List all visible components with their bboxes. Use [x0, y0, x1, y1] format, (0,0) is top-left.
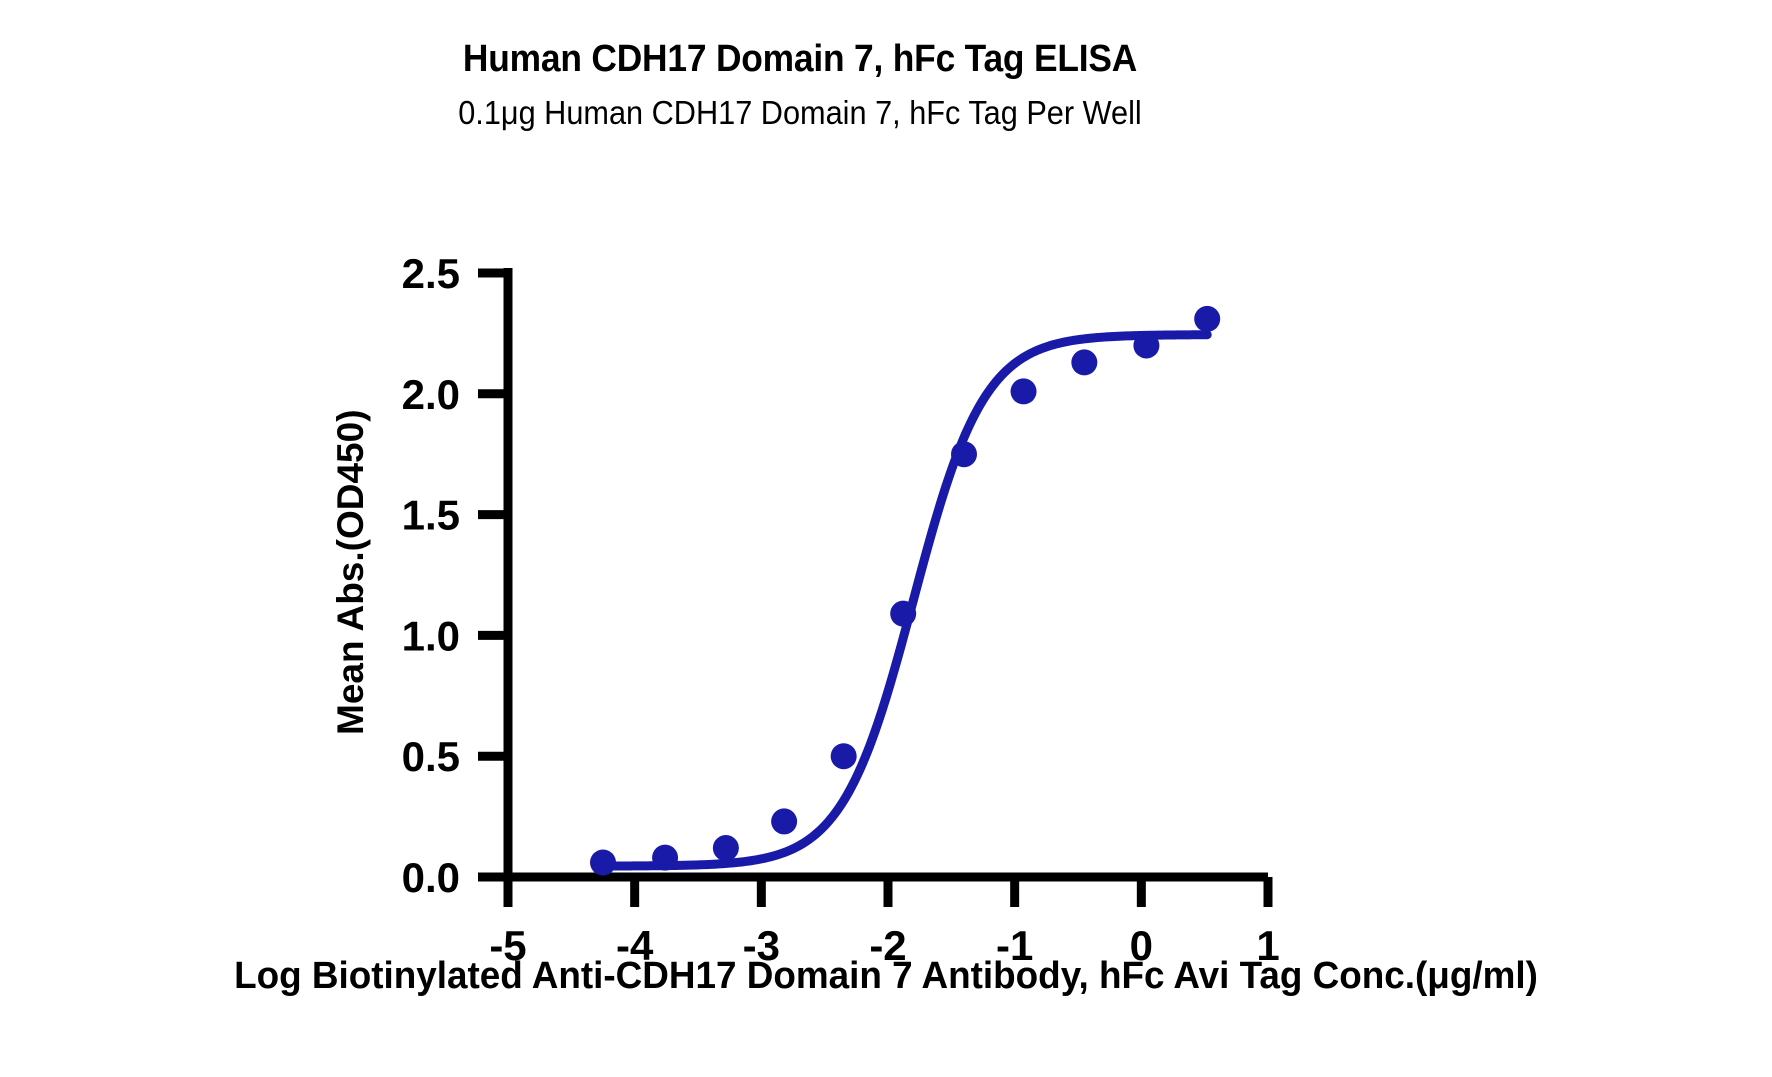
y-tick-label: 1.0 — [402, 612, 460, 659]
y-tick-label: 0.0 — [402, 854, 460, 901]
data-point-marker — [771, 808, 797, 834]
data-point-marker — [831, 743, 857, 769]
data-point-marker — [890, 601, 916, 627]
y-tick-label: 1.5 — [402, 492, 460, 539]
axis-lines — [504, 268, 1268, 877]
data-point-marker — [1194, 306, 1220, 332]
y-tick-label: 2.5 — [402, 250, 460, 297]
data-point-marker — [652, 845, 678, 871]
data-point-marker — [951, 441, 977, 467]
fit-curve — [603, 335, 1207, 866]
data-point-marker — [590, 850, 616, 876]
data-point-marker — [1071, 349, 1097, 375]
data-point-marker — [1011, 378, 1037, 404]
data-points — [590, 306, 1220, 876]
y-tick-label: 0.5 — [402, 733, 460, 780]
y-tick-label: 2.0 — [402, 371, 460, 418]
x-axis-label: Log Biotinylated Anti-CDH17 Domain 7 Ant… — [27, 955, 1746, 998]
data-point-marker — [1133, 332, 1159, 358]
data-point-marker — [713, 835, 739, 861]
elisa-chart-figure: Human CDH17 Domain 7, hFc Tag ELISA 0.1μ… — [0, 0, 1772, 1077]
plot-area: 0.00.51.01.52.02.5 -5-4-3-2-101 — [0, 0, 1772, 1077]
y-axis-ticks: 0.00.51.01.52.02.5 — [402, 250, 508, 901]
